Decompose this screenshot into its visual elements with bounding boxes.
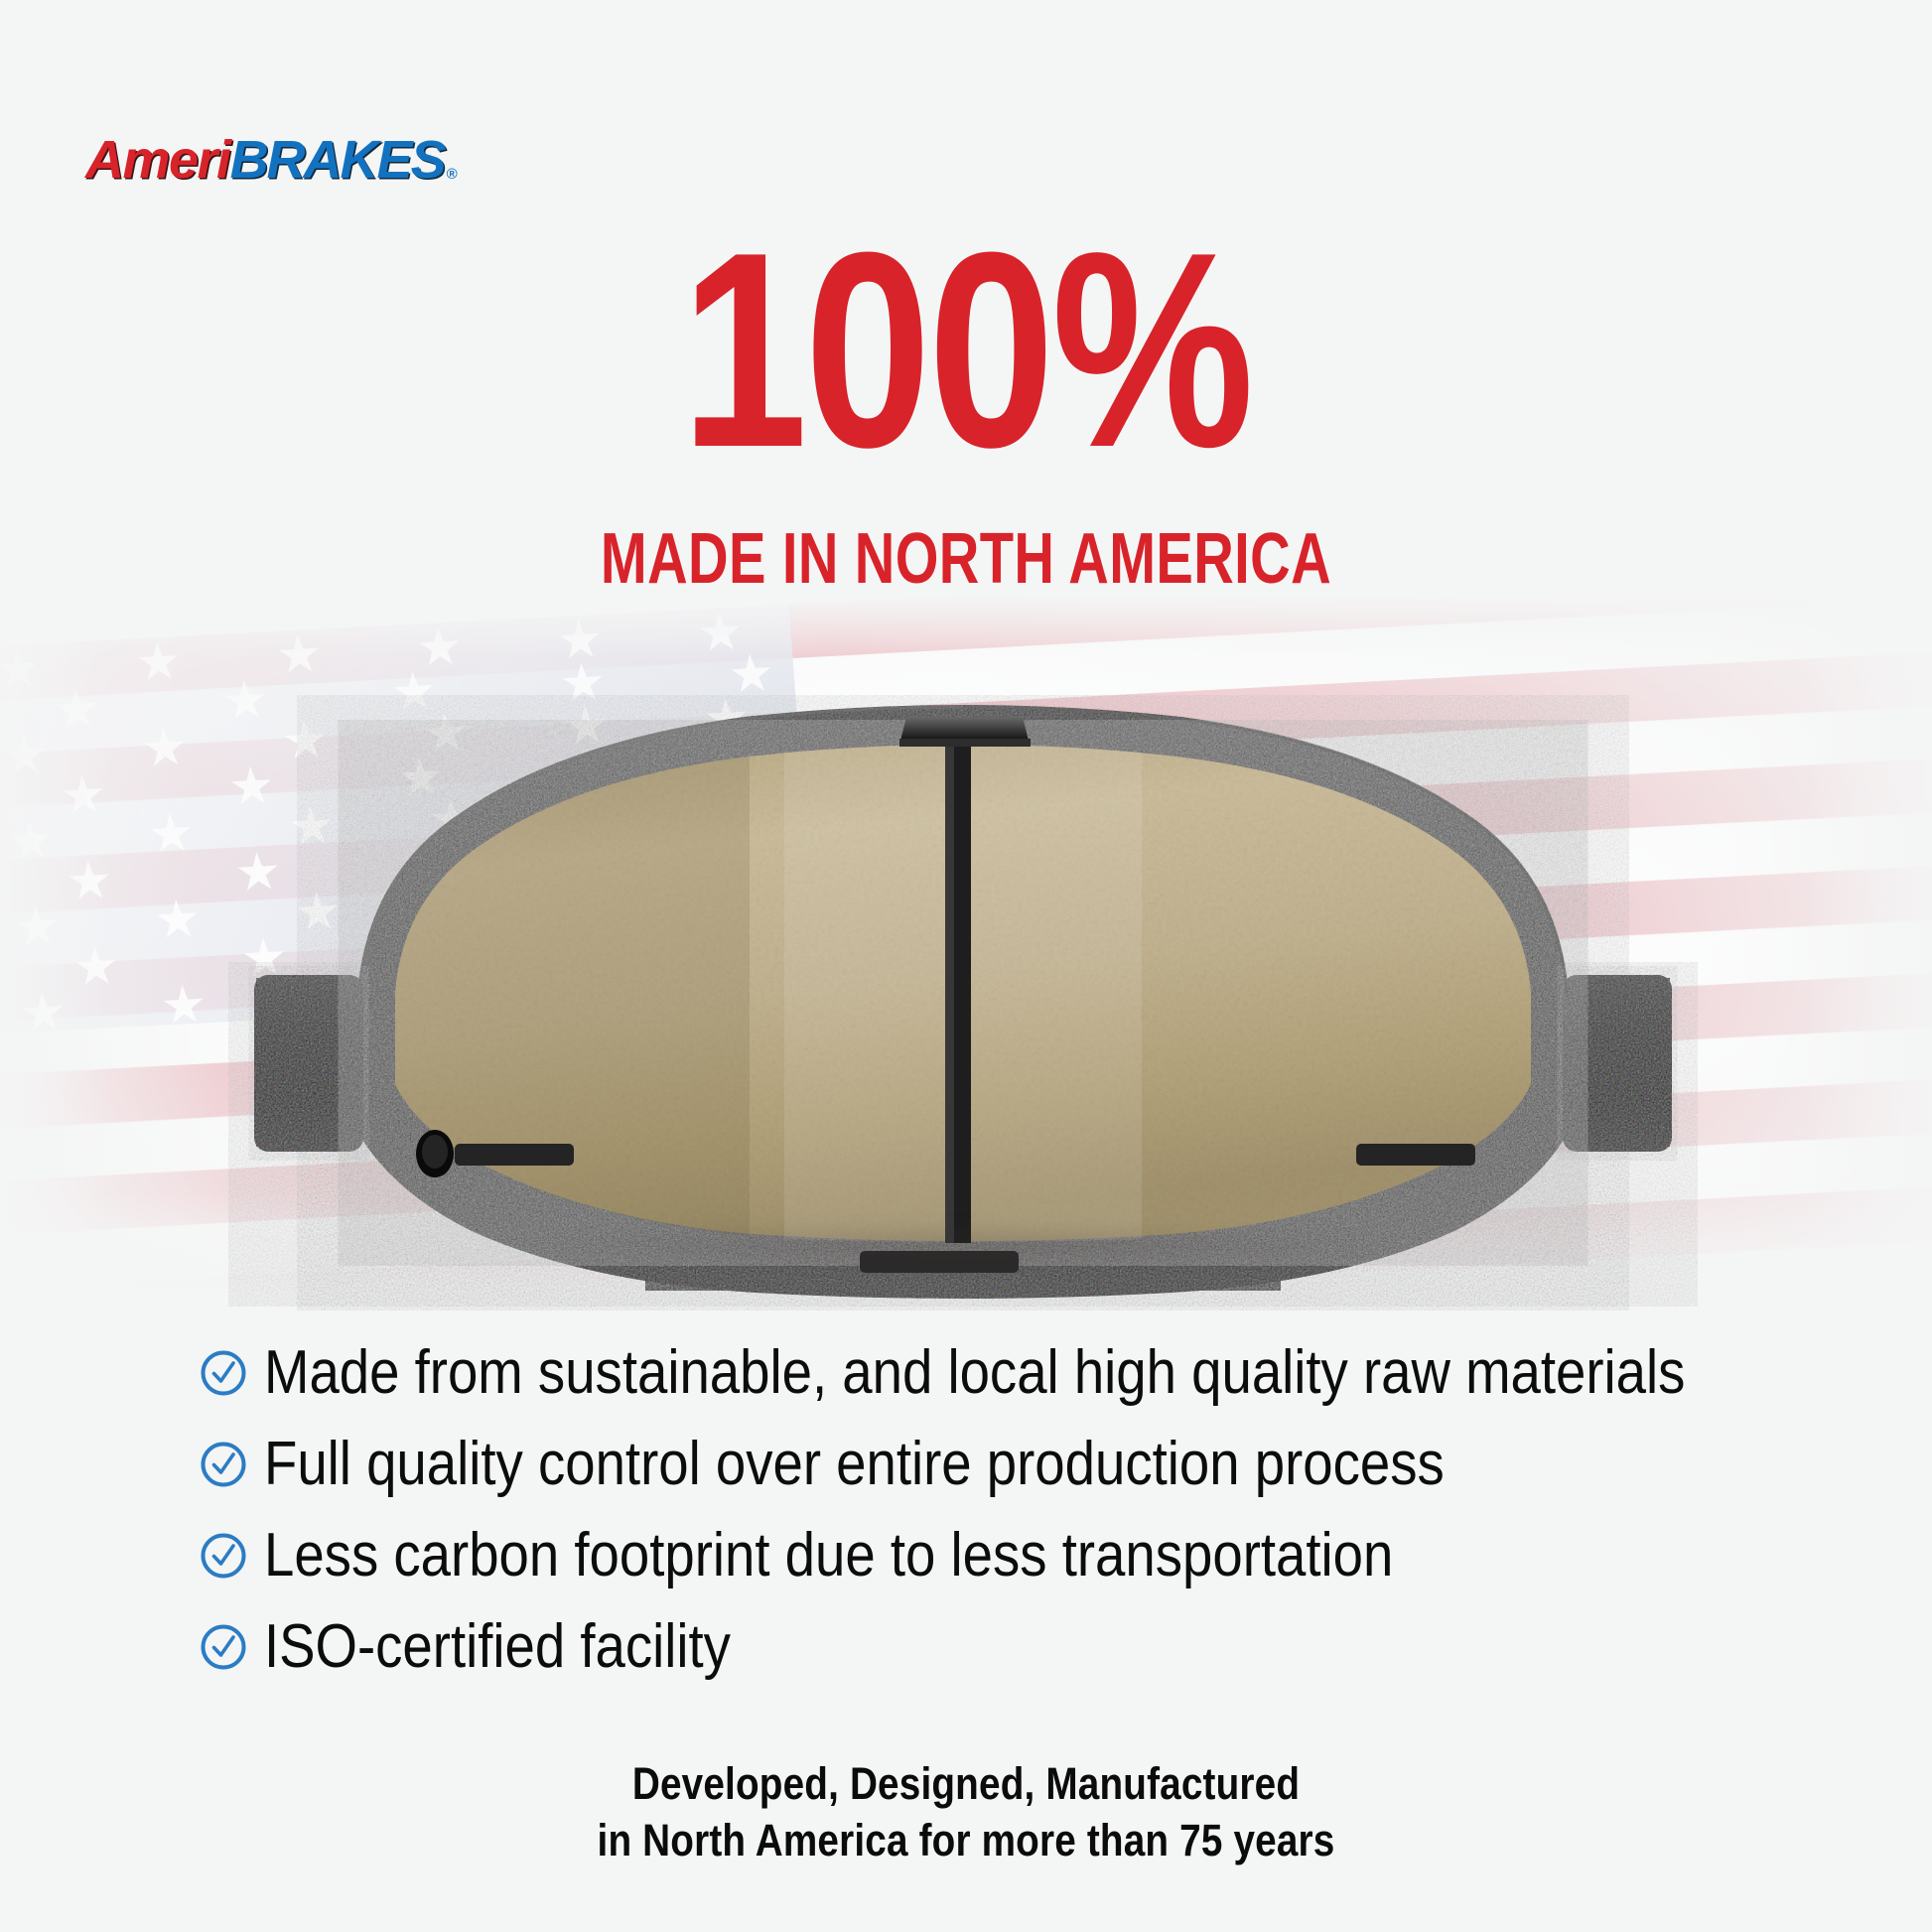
flag-star [73,945,118,989]
rivet-hole [416,1130,454,1177]
list-item: Less carbon footprint due to less transp… [199,1518,1747,1593]
feature-label: Less carbon footprint due to less transp… [264,1523,1393,1588]
list-item: Full quality control over entire product… [199,1427,1747,1502]
flag-star [161,984,206,1028]
flag-star [61,773,105,817]
flag-star [417,625,462,669]
brand-logo[interactable]: Ameri BRAKES ® [85,127,458,187]
flag-star [277,633,322,677]
flag-star [8,820,53,864]
flag-star [2,734,47,777]
flag-star [136,640,181,684]
check-circle-icon [199,1622,248,1672]
registered-trademark-icon: ® [447,166,458,187]
flag-star [698,612,743,655]
top-tab [899,717,1031,747]
flag-star [729,652,773,696]
flag-star [149,812,194,856]
feature-label: Made from sustainable, and local high qu… [264,1340,1685,1406]
feature-label: Full quality control over entire product… [264,1432,1445,1497]
check-circle-icon [199,1531,248,1581]
check-circle-icon [199,1348,248,1398]
promo-banner: Ameri BRAKES ® 100% MADE IN NORTH AMERIC… [0,0,1932,1932]
product-shadow [347,1211,1579,1281]
flag-star [155,898,200,942]
flag-star [68,860,112,903]
check-circle-icon [199,1440,248,1489]
list-item: ISO-certified facility [199,1609,1747,1685]
flag-stripe [0,596,1932,703]
flag-star [142,727,187,770]
list-item: Made from sustainable, and local high qu… [199,1335,1747,1411]
flag-star [558,619,603,662]
headline-percent: 100% [174,226,1758,475]
footer-tagline: Developed, Designed, Manufactured in Nor… [0,1755,1932,1868]
feature-label: ISO-certified facility [264,1614,731,1680]
center-slot [945,735,971,1243]
footer-line-2: in North America for more than 75 years [135,1812,1797,1868]
flag-star [0,648,41,692]
logo-text-ameri: Ameri [85,133,230,187]
flag-star [15,905,60,949]
headline-subtitle: MADE IN NORTH AMERICA [212,521,1720,597]
flag-star [55,688,99,732]
feature-list: Made from sustainable, and local high qu… [199,1335,1747,1701]
footer-line-1: Developed, Designed, Manufactured [135,1755,1797,1812]
flag-star [21,991,66,1035]
logo-text-brakes: BRAKES [230,133,445,187]
product-image-brake-pad [228,695,1698,1311]
